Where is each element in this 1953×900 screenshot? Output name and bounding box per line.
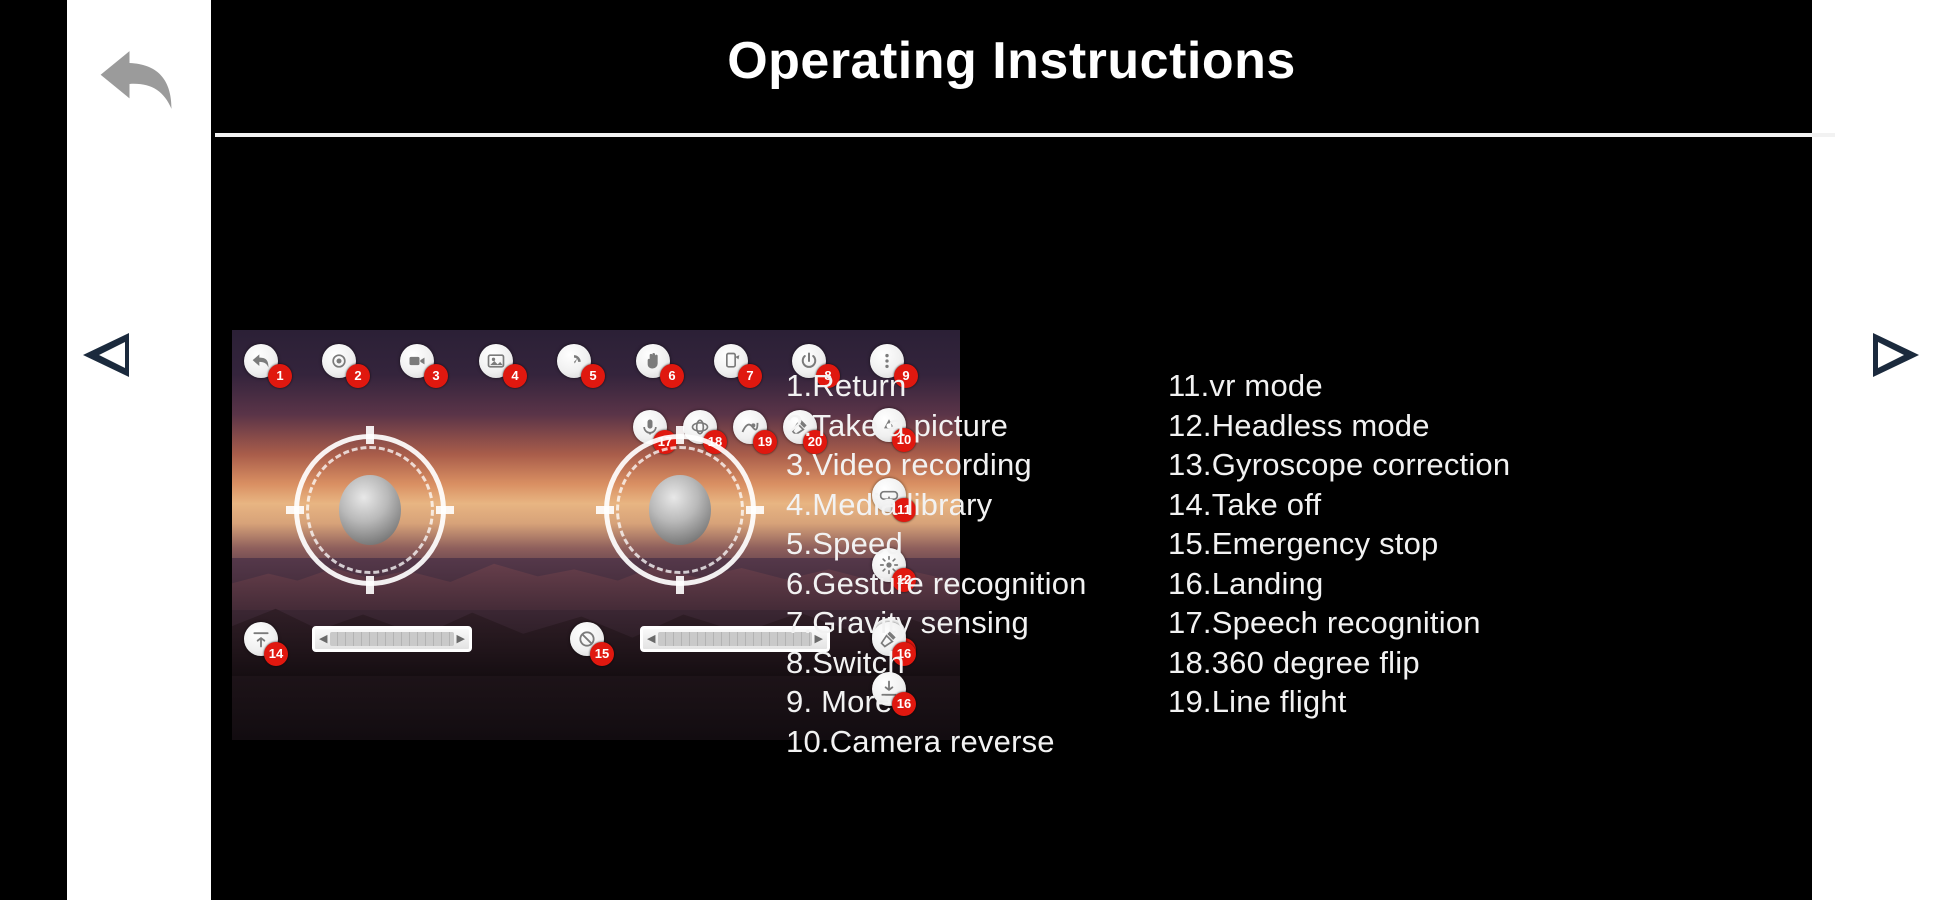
legend-item: 13.Gyroscope correction [1168, 445, 1648, 485]
legend-item: 16.Landing [1168, 564, 1648, 604]
right-joystick-knob[interactable] [649, 475, 711, 545]
page-band-left [67, 0, 211, 900]
page-title: Operating Instructions [211, 25, 1812, 97]
right-joystick-tick-right [746, 506, 764, 514]
device-badge-7: 7 [738, 364, 762, 388]
legend-item: 9. More [786, 682, 1166, 722]
legend-item: 19.Line flight [1168, 682, 1648, 722]
device-badge-5: 5 [581, 364, 605, 388]
left-joystick-tick-bottom [366, 576, 374, 594]
right-joystick[interactable] [604, 434, 756, 586]
legend-item: 14.Take off [1168, 485, 1648, 525]
legend-item: 11.vr mode [1168, 366, 1648, 406]
device-badge-6: 6 [660, 364, 684, 388]
legend-item: 1.Return [786, 366, 1166, 406]
legend-column-left: 1.Return 2.Take a picture 3.Video record… [786, 366, 1166, 761]
left-trim-slider-right-cap: ▶ [457, 634, 465, 645]
left-trim-slider[interactable]: ◀ ▶ [312, 626, 472, 652]
next-arrow-notch [1878, 342, 1904, 368]
left-joystick[interactable] [294, 434, 446, 586]
device-badge-15: 15 [590, 642, 614, 666]
legend-item: 15.Emergency stop [1168, 524, 1648, 564]
right-trim-slider-left-cap: ◀ [647, 634, 655, 645]
device-badge-14: 14 [264, 642, 288, 666]
legend-column-right: 11.vr mode 12.Headless mode 13.Gyroscope… [1168, 366, 1648, 722]
page-root: Operating Instructions 1 2 3 4 5 [0, 0, 1953, 900]
legend-item: 7.Gravity sensing [786, 603, 1166, 643]
legend-item: 5.Speed [786, 524, 1166, 564]
legend-item: 17.Speech recognition [1168, 603, 1648, 643]
legend-item: 6.Gesture recognition [786, 564, 1166, 604]
device-badge-3: 3 [424, 364, 448, 388]
prev-arrow-notch [99, 342, 125, 368]
left-joystick-tick-right [436, 506, 454, 514]
right-joystick-tick-bottom [676, 576, 684, 594]
left-trim-slider-track[interactable] [330, 632, 453, 646]
legend-item: 3.Video recording [786, 445, 1166, 485]
device-badge-4: 4 [503, 364, 527, 388]
legend-item: 18.360 degree flip [1168, 643, 1648, 683]
right-joystick-tick-top [676, 426, 684, 444]
legend-item: 4.Media library [786, 485, 1166, 525]
right-joystick-tick-left [596, 506, 614, 514]
legend-item: 2.Take a picture [786, 406, 1166, 446]
left-joystick-knob[interactable] [339, 475, 401, 545]
legend-item: 8.Switch [786, 643, 1166, 683]
legend-item: 12.Headless mode [1168, 406, 1648, 446]
back-button[interactable] [95, 40, 185, 120]
device-badge-2: 2 [346, 364, 370, 388]
left-joystick-tick-left [286, 506, 304, 514]
device-badge-19: 19 [753, 430, 777, 454]
left-joystick-tick-top [366, 426, 374, 444]
back-arrow-icon [98, 43, 182, 117]
left-trim-slider-left-cap: ◀ [319, 634, 327, 645]
legend-item: 10.Camera reverse [786, 722, 1166, 762]
title-divider [215, 133, 1835, 137]
device-badge-1: 1 [268, 364, 292, 388]
